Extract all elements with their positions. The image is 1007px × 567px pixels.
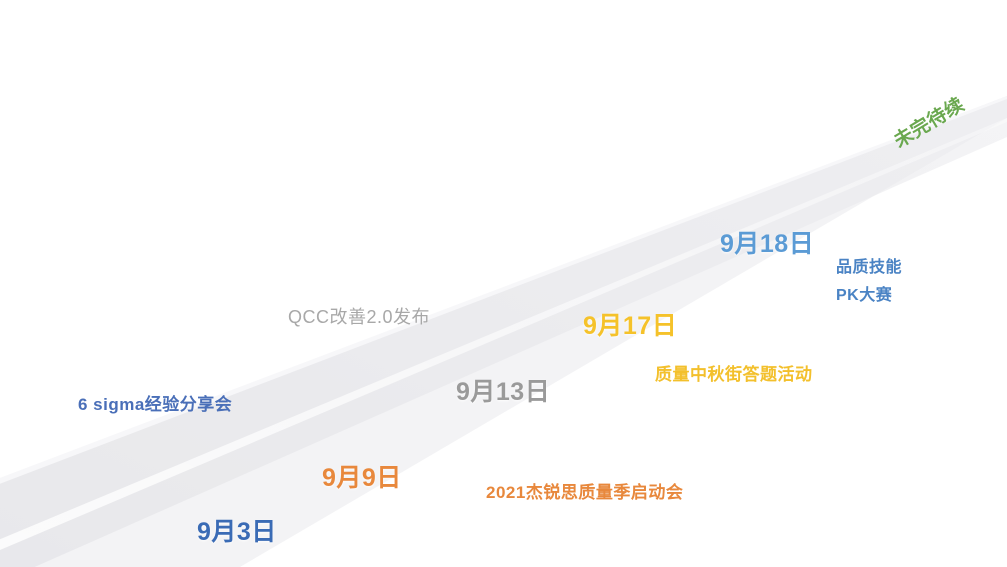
milestone-event-pk-line2: PK大赛 xyxy=(836,282,902,310)
milestone-event-quality-season-kickoff: 2021杰锐思质量季启动会 xyxy=(486,478,683,503)
milestone-event-pk-contest: 品质技能 PK大赛 xyxy=(836,254,902,310)
milestone-event-qcc-release: QCC改善2.0发布 xyxy=(288,303,430,329)
timeline-roadmap-canvas: 9月3日 6 sigma经验分享会 9月9日 2021杰锐思质量季启动会 9月1… xyxy=(0,0,1007,567)
milestone-date-0909: 9月9日 xyxy=(322,458,402,494)
milestone-event-midautumn-quiz: 质量中秋街答题活动 xyxy=(655,360,813,385)
milestone-event-pk-line1: 品质技能 xyxy=(836,254,902,282)
milestone-date-0903: 9月3日 xyxy=(197,512,277,548)
milestone-date-0918: 9月18日 xyxy=(720,224,814,260)
milestone-date-0913: 9月13日 xyxy=(456,372,550,408)
milestone-event-6sigma: 6 sigma经验分享会 xyxy=(78,390,232,415)
milestone-date-0917: 9月17日 xyxy=(583,306,677,342)
